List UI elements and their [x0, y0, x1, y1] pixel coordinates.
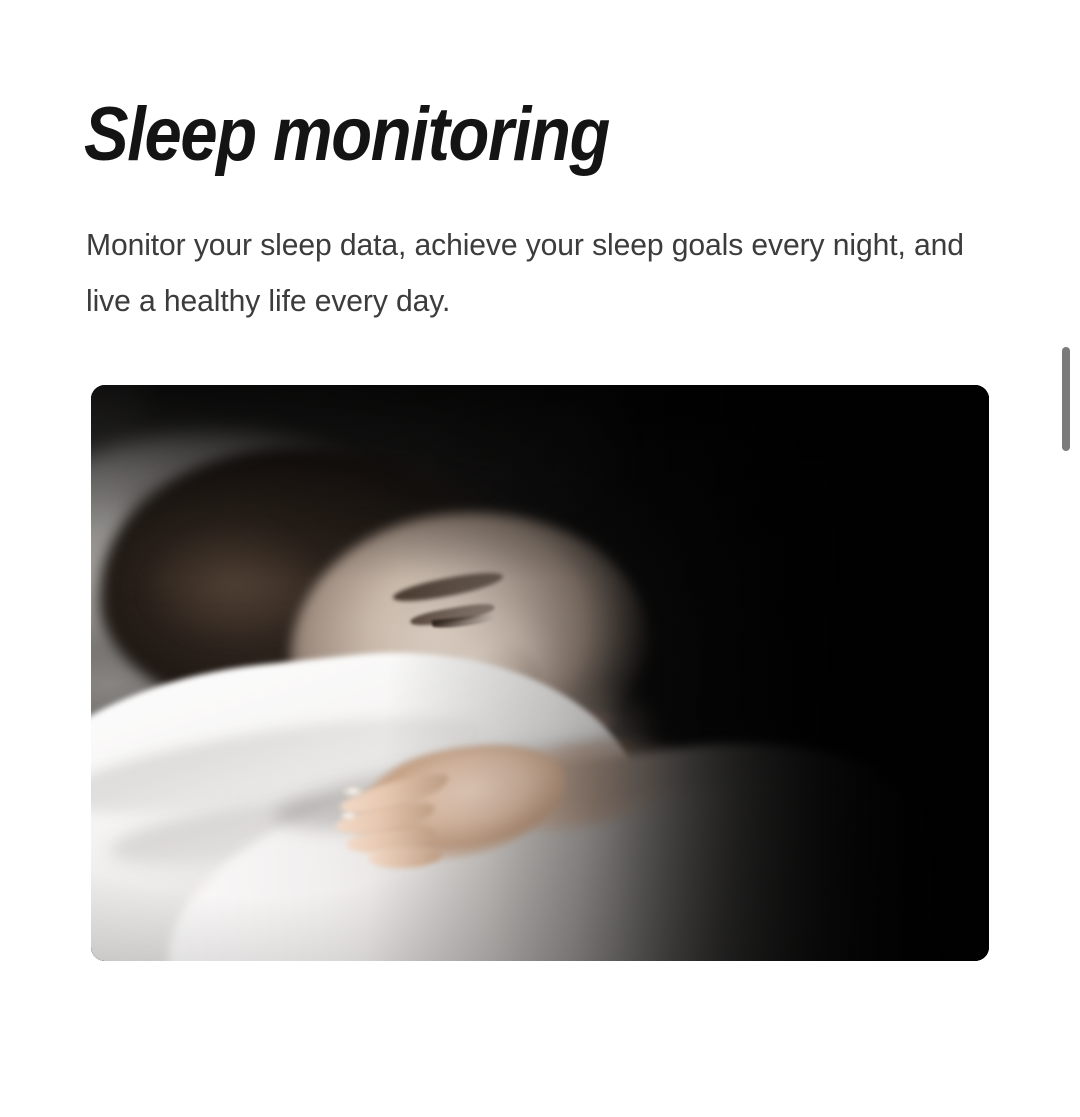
page-title: Sleep monitoring — [84, 93, 876, 177]
vertical-scrollbar[interactable] — [1058, 0, 1080, 1117]
sleep-photo-image — [91, 385, 989, 961]
scrollbar-thumb[interactable] — [1062, 347, 1070, 451]
page-root: Sleep monitoring Monitor your sleep data… — [0, 0, 1080, 1117]
photo-layer-fingernail — [342, 786, 365, 799]
page-subtitle: Monitor your sleep data, achieve your sl… — [86, 217, 971, 329]
sleep-photo-card — [91, 385, 989, 961]
